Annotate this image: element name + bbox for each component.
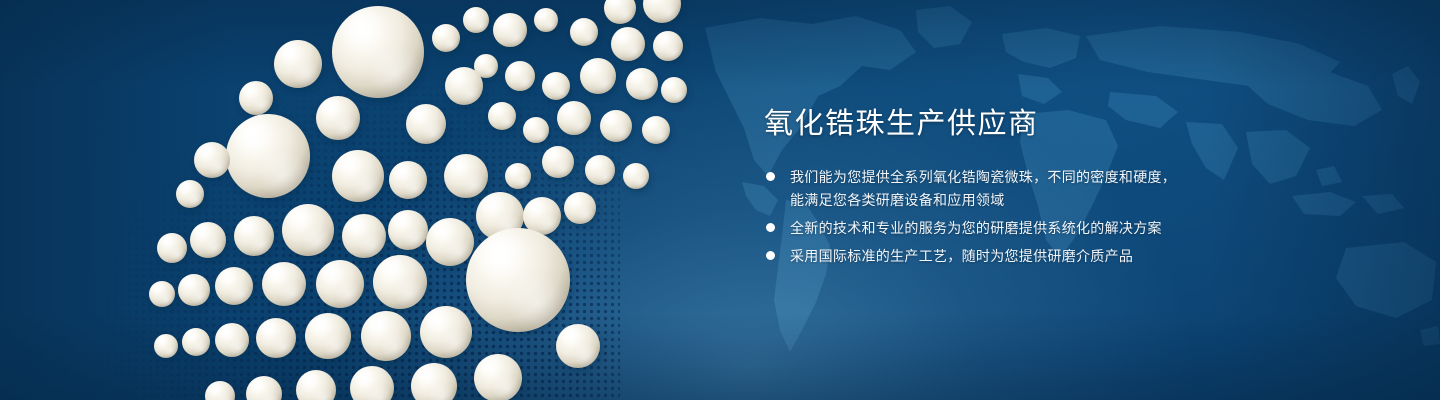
page-title: 氧化锆珠生产供应商 bbox=[764, 104, 1324, 144]
list-item: 全新的技术和专业的服务为您的研磨提供系统化的解决方案 bbox=[764, 217, 1324, 240]
zirconia-beads-image bbox=[150, 0, 710, 400]
bullet-dot-icon bbox=[766, 223, 775, 232]
list-item-line: 能满足您各类研磨设备和应用领域 bbox=[790, 189, 1324, 212]
feature-list: 我们能为您提供全系列氧化锆陶瓷微珠，不同的密度和硬度， 能满足您各类研磨设备和应… bbox=[764, 166, 1324, 268]
hero-banner: 氧化锆珠生产供应商 我们能为您提供全系列氧化锆陶瓷微珠，不同的密度和硬度， 能满… bbox=[0, 0, 1440, 400]
bullet-dot-icon bbox=[766, 251, 775, 260]
bullet-dot-icon bbox=[766, 172, 775, 181]
list-item-line: 我们能为您提供全系列氧化锆陶瓷微珠，不同的密度和硬度， bbox=[790, 166, 1324, 189]
list-item: 我们能为您提供全系列氧化锆陶瓷微珠，不同的密度和硬度， 能满足您各类研磨设备和应… bbox=[764, 166, 1324, 212]
list-item-line: 全新的技术和专业的服务为您的研磨提供系统化的解决方案 bbox=[790, 217, 1324, 240]
list-item-line: 采用国际标准的生产工艺，随时为您提供研磨介质产品 bbox=[790, 245, 1324, 268]
banner-content: 氧化锆珠生产供应商 我们能为您提供全系列氧化锆陶瓷微珠，不同的密度和硬度， 能满… bbox=[764, 104, 1324, 273]
list-item: 采用国际标准的生产工艺，随时为您提供研磨介质产品 bbox=[764, 245, 1324, 268]
